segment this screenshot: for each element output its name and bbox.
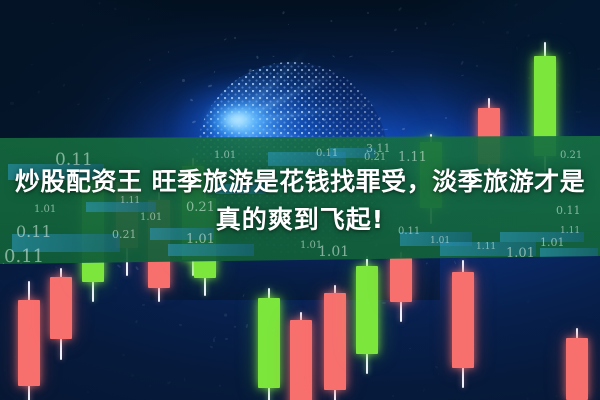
band-slab-9: [440, 242, 536, 256]
headline-line-1: 炒股配资王 旺季旅游是花钱找罪受，淡季旅游才是: [0, 163, 600, 201]
candle-body: [324, 293, 346, 390]
headline-line-2: 真的爽到飞起!: [0, 201, 600, 239]
band-slab-7: [330, 148, 376, 158]
candle-body: [356, 266, 378, 354]
candle-body: [452, 272, 474, 368]
candle-body: [18, 300, 40, 386]
candle-body: [390, 258, 412, 302]
stock-market-banner: 0.111.010.110.111.011.011.111.010.210.21…: [0, 0, 600, 400]
candle-body: [258, 298, 280, 388]
candle-body: [50, 277, 72, 339]
candle-body: [566, 338, 588, 400]
band-slab-5: [168, 244, 254, 256]
headline: 炒股配资王 旺季旅游是花钱找罪受，淡季旅游才是 真的爽到飞起!: [0, 163, 600, 239]
candle-body: [290, 320, 312, 400]
